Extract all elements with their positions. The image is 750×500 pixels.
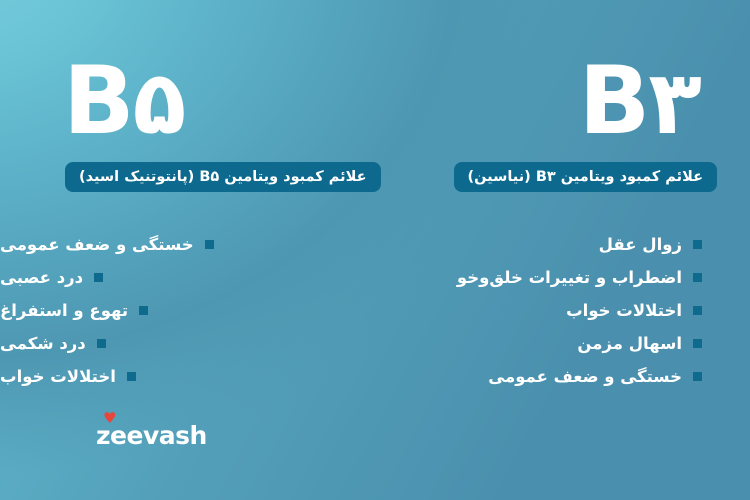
vitamin-b5-headline: B۵ (63, 52, 186, 152)
brand-wordmark: zeevash (96, 423, 207, 448)
vitamin-b3-symptom-list: زوال عقل اضطراب و تغییرات خلق‌وخو اختلال… (457, 228, 702, 393)
list-item: درد عصبی (0, 261, 378, 294)
bullet-square-icon (693, 273, 702, 282)
symptom-label: زوال عقل (599, 228, 682, 261)
list-item: تهوع و استفراغ (0, 294, 378, 327)
bullet-square-icon (97, 339, 106, 348)
vitamin-deficiency-infographic: B۳ علائم کمبود ویتامین B۳ (نیاسین) زوال … (0, 0, 750, 500)
bullet-square-icon (127, 372, 136, 381)
bullet-square-icon (693, 306, 702, 315)
bullet-square-icon (693, 372, 702, 381)
list-item: اسهال مزمن (457, 327, 702, 360)
bullet-square-icon (205, 240, 214, 249)
symptom-label: خستگی و ضعف عمومی (488, 360, 682, 393)
list-item: زوال عقل (457, 228, 702, 261)
vitamin-b5-badge-label: علائم کمبود ویتامین B۵ (پانتوتنیک اسید) (79, 169, 367, 185)
symptom-label: اضطراب و تغییرات خلق‌وخو (457, 261, 682, 294)
vitamin-b3-badge-label: علائم کمبود ویتامین B۳ (نیاسین) (468, 169, 704, 185)
bullet-square-icon (139, 306, 148, 315)
brand-logo[interactable]: ♥ zeevash (96, 412, 206, 448)
bullet-square-icon (693, 240, 702, 249)
list-item: خستگی و ضعف عمومی (457, 360, 702, 393)
list-item: خستگی و ضعف عمومی (0, 228, 378, 261)
symptom-label: درد شکمی (0, 327, 86, 360)
symptom-label: تهوع و استفراغ (0, 294, 128, 327)
vitamin-b5-headline-numeral: ۵ (133, 51, 187, 154)
symptom-label: درد عصبی (0, 261, 83, 294)
vitamin-b3-headline: B۳ (579, 52, 702, 152)
list-item: درد شکمی (0, 327, 378, 360)
bullet-square-icon (693, 339, 702, 348)
symptom-label: اختلالات خواب (0, 360, 116, 393)
list-item: اختلالات خواب (457, 294, 702, 327)
symptom-label: اختلالات خواب (566, 294, 682, 327)
vitamin-b3-headline-numeral: ۳ (648, 51, 702, 154)
symptom-label: اسهال مزمن (577, 327, 682, 360)
list-item: اختلالات خواب (0, 360, 378, 393)
vitamin-b3-badge: علائم کمبود ویتامین B۳ (نیاسین) (454, 162, 718, 192)
vitamin-b3-column: B۳ علائم کمبود ویتامین B۳ (نیاسین) زوال … (375, 0, 750, 500)
vitamin-b5-symptom-list: خستگی و ضعف عمومی درد عصبی تهوع و استفرا… (0, 228, 378, 393)
vitamin-b5-badge: علائم کمبود ویتامین B۵ (پانتوتنیک اسید) (65, 162, 381, 192)
symptom-label: خستگی و ضعف عمومی (0, 228, 194, 261)
vitamin-b3-headline-prefix: B (579, 47, 649, 156)
bullet-square-icon (94, 273, 103, 282)
list-item: اضطراب و تغییرات خلق‌وخو (457, 261, 702, 294)
vitamin-b5-headline-prefix: B (63, 47, 133, 156)
